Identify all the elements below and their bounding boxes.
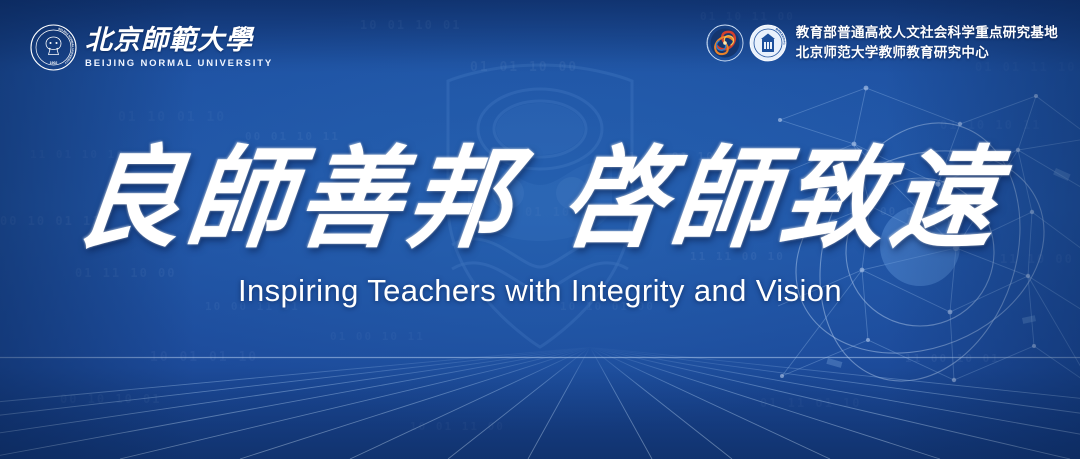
slogan-calligraphy: 良師善邦啓師致遠 xyxy=(70,136,1009,261)
svg-text:1902: 1902 xyxy=(50,61,58,65)
binary-text-snippet: 01 10 10 11 xyxy=(940,118,1041,132)
binary-text-snippet: 01 01 11 10 xyxy=(975,60,1076,74)
perspective-grid-floor xyxy=(0,329,1080,459)
beijing-normal-university-logo: BEIJING NORMAL UNIVERSITY 1902 北京師範大學 BE… xyxy=(30,24,273,71)
binary-text-snippet: 00 10 10 01 xyxy=(60,392,161,406)
slogan-phrase-2: 啓師致遠 xyxy=(554,133,1010,263)
slogan-subtitle-en: Inspiring Teachers with Integrity and Vi… xyxy=(238,272,842,310)
university-wordmark: 北京師範大學 BEIJING NORMAL UNIVERSITY xyxy=(85,25,273,70)
binary-text-snippet: 11 00 10 01 xyxy=(905,352,1000,365)
research-base-title: 教育部普通高校人文社会科学重点研究基地 xyxy=(796,24,1058,42)
research-center-logos: RESEARCH BASE xyxy=(706,24,787,62)
university-seal-icon: BEIJING NORMAL UNIVERSITY 1902 xyxy=(30,24,77,71)
binary-text-snippet: 01 00 10 11 xyxy=(330,330,425,343)
institute-seal-icon: 教师教育研究中心 xyxy=(749,24,787,62)
university-name-cn: 北京師範大學 xyxy=(85,27,253,55)
binary-text-snippet: 01 01 10 00 xyxy=(470,60,578,75)
galaxy-spiral-icon: RESEARCH BASE xyxy=(706,24,744,62)
slogan-phrase-1: 良師善邦 xyxy=(70,133,526,263)
bnu-promotional-banner: 01 10 01 1010 01 10 0101 10 11 0011 01 1… xyxy=(0,0,1080,459)
binary-text-snippet: 01 10 01 10 xyxy=(118,110,226,125)
research-center-identity: RESEARCH BASE xyxy=(706,24,1058,62)
binary-text-snippet: 01 11 01 10 xyxy=(760,396,861,410)
research-center-title: 北京师范大学教师教育研究中心 xyxy=(796,44,1058,62)
headline-container: 良師善邦啓師致遠 xyxy=(0,140,1080,258)
binary-text-snippet: 01 10 11 00 xyxy=(700,10,795,23)
research-center-name-block: 教育部普通高校人文社会科学重点研究基地 北京师范大学教师教育研究中心 xyxy=(794,24,1058,62)
subtitle-container: Inspiring Teachers with Integrity and Vi… xyxy=(0,272,1080,310)
binary-text-snippet: 10 01 01 10 xyxy=(150,350,258,365)
binary-text-snippet: 10 01 10 01 xyxy=(360,18,461,32)
university-name-en: BEIJING NORMAL UNIVERSITY xyxy=(85,58,273,70)
binary-text-snippet: 10 01 11 00 xyxy=(410,420,505,433)
